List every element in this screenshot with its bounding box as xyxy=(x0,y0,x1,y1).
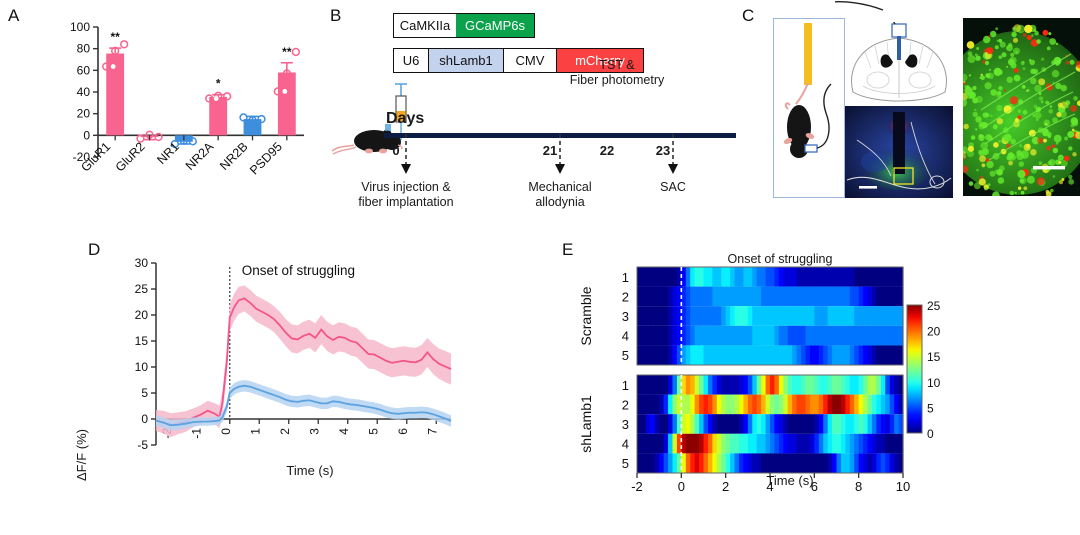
timeline-days-label: Days xyxy=(386,110,424,128)
heatmap-cell xyxy=(739,414,744,434)
heatmap-cell xyxy=(690,453,695,473)
heatmap-cell xyxy=(850,287,855,307)
heatmap-cell xyxy=(761,306,766,326)
heatmap-cell xyxy=(761,326,766,346)
heatmap-cell xyxy=(881,287,886,307)
heatmap-cell xyxy=(690,414,695,434)
heatmap-cell xyxy=(832,453,837,473)
heatmap-cell xyxy=(655,267,660,287)
heatmap-cell xyxy=(788,395,793,415)
heatmap-cell xyxy=(757,306,762,326)
heatmap-cell xyxy=(881,345,886,365)
row-label: 1 xyxy=(622,270,629,285)
heatmap-cell xyxy=(810,326,815,346)
heatmap-cell xyxy=(668,434,673,454)
heatmap-cell xyxy=(797,395,802,415)
heatmap-cell xyxy=(735,267,740,287)
heatmap-cell xyxy=(739,306,744,326)
heatmap-cell xyxy=(814,287,819,307)
heatmap-cell xyxy=(779,326,784,346)
heatmap-cell xyxy=(659,267,664,287)
confocal-render xyxy=(963,18,1080,196)
bar-NR2A xyxy=(209,97,227,135)
heatmap-cell xyxy=(876,267,881,287)
heatmap-cell xyxy=(704,375,709,395)
heatmap-cell xyxy=(801,306,806,326)
heatmap-cell xyxy=(743,287,748,307)
heatmap-cell xyxy=(757,345,762,365)
heatmap-cell xyxy=(650,414,655,434)
heatmap-cell xyxy=(770,395,775,415)
heatmap-cell xyxy=(695,287,700,307)
heatmap-cell xyxy=(748,395,753,415)
heatmap-cell xyxy=(704,267,709,287)
heatmap-cell xyxy=(845,375,850,395)
heatmap-cell xyxy=(735,434,740,454)
heatmap-cell xyxy=(872,375,877,395)
data-point-fill xyxy=(214,96,219,101)
heatmap-cell xyxy=(823,414,828,434)
heatmap-cell xyxy=(681,453,686,473)
heatmap-cell xyxy=(637,267,642,287)
heatmap-cell xyxy=(770,287,775,307)
timeline-day-0: 0 xyxy=(382,143,410,158)
heatmap-cell xyxy=(770,345,775,365)
heatmap-cell xyxy=(672,287,677,307)
heatmap-cell xyxy=(637,306,642,326)
heatmap-cell xyxy=(801,395,806,415)
heatmap-cell xyxy=(859,453,864,473)
heatmap-cell xyxy=(854,414,859,434)
heatmap-cell xyxy=(854,453,859,473)
svg-text:**: ** xyxy=(282,45,292,59)
heatmap-cell xyxy=(721,267,726,287)
heatmap-cell xyxy=(788,434,793,454)
heatmap-cell xyxy=(881,306,886,326)
heatmap-cell xyxy=(646,414,651,434)
heatmap-cell xyxy=(766,434,771,454)
heatmap-cell xyxy=(872,345,877,365)
heatmap-cell xyxy=(792,434,797,454)
heatmap-cell xyxy=(672,395,677,415)
heatmap-cell xyxy=(681,345,686,365)
heatmap-cell xyxy=(876,375,881,395)
heatmap-cell xyxy=(805,326,810,346)
heatmap-cell xyxy=(757,453,762,473)
heatmap-cell xyxy=(792,395,797,415)
heatmap-cell xyxy=(801,434,806,454)
heatmap-cell xyxy=(779,345,784,365)
data-point-fill xyxy=(282,89,287,94)
heatmap-cell xyxy=(712,287,717,307)
heatmap-cell xyxy=(863,306,868,326)
heatmap-cell xyxy=(854,306,859,326)
heatmap-cell xyxy=(655,375,660,395)
figure-canvas: A % change in shLamb1 mice (compared to … xyxy=(0,0,1080,501)
timeline-day-23: 23 xyxy=(649,143,677,158)
heatmap-cell xyxy=(690,375,695,395)
heatmap-cell xyxy=(837,267,842,287)
heatmap-cell xyxy=(774,434,779,454)
heatmap-cell xyxy=(641,395,646,415)
heatmap-cell xyxy=(859,306,864,326)
heatmap-cell xyxy=(779,267,784,287)
heatmap-cell xyxy=(797,267,802,287)
heatmap-cell xyxy=(704,414,709,434)
heatmap-cell xyxy=(885,326,890,346)
heatmap-cell xyxy=(779,395,784,415)
heatmap-cell xyxy=(704,395,709,415)
heatmap-cell xyxy=(708,306,713,326)
heatmap-cell xyxy=(885,306,890,326)
x-tick-label: 2 xyxy=(278,428,292,435)
heatmap-cell xyxy=(872,453,877,473)
bar-group xyxy=(103,41,128,135)
heatmap-cell xyxy=(837,287,842,307)
heatmap-cell xyxy=(712,345,717,365)
heatmap-cell xyxy=(774,375,779,395)
heatmap-cell xyxy=(837,306,842,326)
heatmap-cell xyxy=(664,395,669,415)
heatmap-cell xyxy=(779,453,784,473)
heatmap-cell xyxy=(766,287,771,307)
panel-e: Onset of struggling 12345Scramble12345sh… xyxy=(555,235,1080,501)
heatmap-cell xyxy=(828,434,833,454)
heatmap-cell xyxy=(868,326,873,346)
heatmap-cell xyxy=(832,345,837,365)
heatmap-cell xyxy=(752,287,757,307)
heatmap-cell xyxy=(783,345,788,365)
heatmap-cell xyxy=(699,287,704,307)
heatmap-cell xyxy=(841,306,846,326)
heatmap-cell xyxy=(863,414,868,434)
heatmap-cell xyxy=(664,453,669,473)
x-tick-label: NR2B xyxy=(217,140,250,173)
heatmap-cell xyxy=(788,375,793,395)
heatmap-cell xyxy=(810,375,815,395)
heatmap-cell xyxy=(752,326,757,346)
heatmap-cell xyxy=(757,287,762,307)
heatmap-cell xyxy=(743,375,748,395)
timeline-day-21: 21 xyxy=(536,143,564,158)
tail-suspension-mouse-illustration xyxy=(773,18,845,198)
heatmap-cell xyxy=(814,326,819,346)
heatmap-cell xyxy=(730,306,735,326)
histology-render xyxy=(845,106,953,198)
heatmap-cell xyxy=(655,414,660,434)
heatmap-cell xyxy=(885,375,890,395)
heatmap-cell xyxy=(757,375,762,395)
heatmap-cell xyxy=(797,287,802,307)
heatmap-cell xyxy=(845,287,850,307)
svg-text:0: 0 xyxy=(141,412,148,426)
heatmap-cell xyxy=(650,395,655,415)
heatmap-cell xyxy=(668,267,673,287)
colorbar xyxy=(907,305,922,433)
heatmap-cell xyxy=(672,434,677,454)
heatmap-cell xyxy=(695,434,700,454)
heatmap-cell xyxy=(659,287,664,307)
heatmap-cell xyxy=(894,375,899,395)
heatmap-cell xyxy=(810,306,815,326)
heatmap-cell xyxy=(712,326,717,346)
panel-c xyxy=(735,0,1080,220)
heatmap-cell xyxy=(637,287,642,307)
heatmap-cell xyxy=(664,306,669,326)
heatmap-cell xyxy=(664,434,669,454)
heatmap-cell xyxy=(819,434,824,454)
heatmap-cell xyxy=(637,395,642,415)
heatmap-cell xyxy=(752,414,757,434)
heatmap-cell xyxy=(739,267,744,287)
heatmap-cell xyxy=(637,453,642,473)
x-tick-label: 3 xyxy=(307,428,321,435)
heatmap-cell xyxy=(650,326,655,346)
row-label: 5 xyxy=(622,348,629,363)
construct-camkiia-gcamp6s: CaMKIIaGCaMP6s xyxy=(393,13,535,38)
colorbar-tick: 25 xyxy=(927,299,941,313)
heatmap-cell xyxy=(837,326,842,346)
heatmap-cell xyxy=(854,267,859,287)
heatmap-cell xyxy=(650,345,655,365)
heatmap-cell xyxy=(743,306,748,326)
heatmap-cell xyxy=(677,326,682,346)
heatmap-cell xyxy=(872,395,877,415)
heatmap-cell xyxy=(761,267,766,287)
row-label: 5 xyxy=(622,456,629,471)
heatmap-cell xyxy=(646,306,651,326)
heatmap-cell xyxy=(695,326,700,346)
heatmap-cell xyxy=(792,414,797,434)
heatmap-cell xyxy=(837,434,842,454)
heatmap-cell xyxy=(779,287,784,307)
heatmap-cell xyxy=(863,453,868,473)
heatmap-cell xyxy=(859,345,864,365)
heatmap-cell xyxy=(810,267,815,287)
heatmap-cell xyxy=(752,306,757,326)
heatmap-cell xyxy=(641,414,646,434)
bar-group xyxy=(274,49,299,136)
heatmap-cell xyxy=(650,375,655,395)
heatmap-cell xyxy=(810,395,815,415)
heatmap-cell xyxy=(819,375,824,395)
heatmap-cell xyxy=(641,306,646,326)
heatmap-cell xyxy=(659,434,664,454)
heatmap-cell xyxy=(704,453,709,473)
heatmap-cell xyxy=(761,395,766,415)
heatmap-cell xyxy=(721,453,726,473)
heatmap-cell xyxy=(770,434,775,454)
svg-text:0: 0 xyxy=(83,128,90,142)
heatmap-cell xyxy=(699,414,704,434)
heatmap-cell xyxy=(805,434,810,454)
heatmap-cell xyxy=(686,267,691,287)
heatmap-cell xyxy=(828,326,833,346)
heatmap-cell xyxy=(805,345,810,365)
heatmap-cell xyxy=(894,414,899,434)
heatmap-cell xyxy=(890,326,895,346)
heatmap-cell xyxy=(814,306,819,326)
panel-d-ylabel: ΔF/F (%) xyxy=(74,375,89,535)
heatmap-cell xyxy=(894,453,899,473)
heatmap-cell xyxy=(668,345,673,365)
heatmap-cell xyxy=(854,395,859,415)
row-label: 3 xyxy=(622,417,629,432)
heatmap-cell xyxy=(770,326,775,346)
heatmap-cell xyxy=(881,414,886,434)
heatmap-cell xyxy=(797,434,802,454)
heatmap-cell xyxy=(708,434,713,454)
heatmap-cell xyxy=(752,375,757,395)
timeline-day-22: 22 xyxy=(593,143,621,158)
heatmap-cell xyxy=(743,453,748,473)
heatmap-cell xyxy=(721,306,726,326)
heatmap-cell xyxy=(712,306,717,326)
heatmap-cell xyxy=(695,345,700,365)
heatmap-cell xyxy=(792,375,797,395)
heatmap-cell xyxy=(872,434,877,454)
panel-d-chart: -5051015202530-2-101234567Onset of strug… xyxy=(106,245,506,495)
heatmap-cell xyxy=(859,395,864,415)
heatmap-cell xyxy=(783,375,788,395)
heatmap-cell xyxy=(823,375,828,395)
heatmap-cell xyxy=(641,326,646,346)
heatmap-cell xyxy=(814,375,819,395)
heatmap-cell xyxy=(739,375,744,395)
heatmap-cell xyxy=(739,287,744,307)
heatmap-cell xyxy=(730,395,735,415)
svg-text:-5: -5 xyxy=(137,438,148,452)
heatmap-cell xyxy=(730,326,735,346)
heatmap-cell xyxy=(797,326,802,346)
heatmap-cell xyxy=(637,375,642,395)
heatmap-cell xyxy=(859,287,864,307)
heatmap-cell xyxy=(876,414,881,434)
heatmap-cell xyxy=(814,434,819,454)
heatmap-cell xyxy=(699,267,704,287)
heatmap-cell xyxy=(797,453,802,473)
heatmap-cell xyxy=(783,306,788,326)
heatmap-cell xyxy=(726,453,731,473)
heatmap-cell xyxy=(672,453,677,473)
heatmap-cell xyxy=(828,414,833,434)
heatmap-cell xyxy=(690,306,695,326)
heatmap-cell xyxy=(863,267,868,287)
heatmap-cell xyxy=(743,267,748,287)
heatmap-cell xyxy=(641,287,646,307)
heatmap-cell xyxy=(872,267,877,287)
heatmap-cell xyxy=(748,326,753,346)
heatmap-cell xyxy=(668,287,673,307)
heatmap-cell xyxy=(841,287,846,307)
heatmap-cell xyxy=(774,453,779,473)
heatmap-cell xyxy=(850,326,855,346)
heatmap-cell xyxy=(863,287,868,307)
heatmap-cell xyxy=(885,267,890,287)
heatmap-cell xyxy=(876,453,881,473)
heatmap-cell xyxy=(823,326,828,346)
heatmap-cell xyxy=(735,395,740,415)
heatmap-cell xyxy=(721,395,726,415)
heatmap-cell xyxy=(677,453,682,473)
heatmap-cell xyxy=(766,375,771,395)
heatmap-cell xyxy=(845,395,850,415)
construct-segment-u6: U6 xyxy=(394,49,429,72)
heatmap-cell xyxy=(730,375,735,395)
heatmap-cell xyxy=(708,287,713,307)
heatmap-cell xyxy=(894,434,899,454)
heatmap-cell xyxy=(805,267,810,287)
heatmap-cell xyxy=(810,287,815,307)
svg-text:40: 40 xyxy=(77,85,91,99)
heatmap-cell xyxy=(646,453,651,473)
heatmap-cell xyxy=(717,287,722,307)
heatmap-cell xyxy=(797,306,802,326)
heatmap-cell xyxy=(788,306,793,326)
confocal-gcamp-mcherry-overlay xyxy=(963,18,1080,196)
heatmap-cell xyxy=(832,326,837,346)
heatmap-cell xyxy=(641,345,646,365)
heatmap-cell xyxy=(690,434,695,454)
heatmap-cell xyxy=(890,345,895,365)
heatmap-cell xyxy=(743,345,748,365)
heatmap-cell xyxy=(881,326,886,346)
panel-b: CaMKIIaGCaMP6s U6shLamb1CMVmCherry Days xyxy=(320,0,740,220)
heatmap-cell xyxy=(890,453,895,473)
heatmap-cell xyxy=(872,287,877,307)
heatmap-cell xyxy=(650,434,655,454)
heatmap-cell xyxy=(659,414,664,434)
heatmap-cell xyxy=(717,375,722,395)
colorbar-tick: 15 xyxy=(927,350,941,364)
heatmap-cell xyxy=(726,267,731,287)
svg-text:*: * xyxy=(216,77,221,91)
heatmap-cell xyxy=(805,375,810,395)
heatmap-cell xyxy=(655,287,660,307)
heatmap-cell xyxy=(859,414,864,434)
heatmap-cell xyxy=(837,375,842,395)
heatmap-cell xyxy=(766,326,771,346)
heatmap-cell xyxy=(783,395,788,415)
heatmap-cell xyxy=(672,326,677,346)
heatmap-cell xyxy=(735,326,740,346)
caption-line1: SAC xyxy=(593,180,753,195)
heatmap-cell xyxy=(819,453,824,473)
panel-e-heatmaps: 12345Scramble12345shLamb1-20246810051015… xyxy=(555,245,1075,495)
heatmap-cell xyxy=(823,453,828,473)
heatmap-cell xyxy=(788,287,793,307)
data-point xyxy=(292,49,299,56)
heatmap-cell xyxy=(735,414,740,434)
heatmap-cell xyxy=(646,375,651,395)
heatmap-cell xyxy=(743,434,748,454)
heatmap-cell xyxy=(850,434,855,454)
heatmap-cell xyxy=(788,326,793,346)
heatmap-cell xyxy=(730,414,735,434)
heatmap-cell xyxy=(686,453,691,473)
heatmap-cell xyxy=(659,326,664,346)
heatmap-cell xyxy=(664,375,669,395)
heatmap-cell xyxy=(717,395,722,415)
heatmap-cell xyxy=(876,287,881,307)
heatmap-cell xyxy=(655,306,660,326)
heatmap-cell xyxy=(783,453,788,473)
heatmap-cell xyxy=(672,306,677,326)
heatmap-cell xyxy=(845,453,850,473)
heatmap-cell xyxy=(801,345,806,365)
x-tick-label: 4 xyxy=(337,428,351,435)
heatmap-cell xyxy=(788,345,793,365)
